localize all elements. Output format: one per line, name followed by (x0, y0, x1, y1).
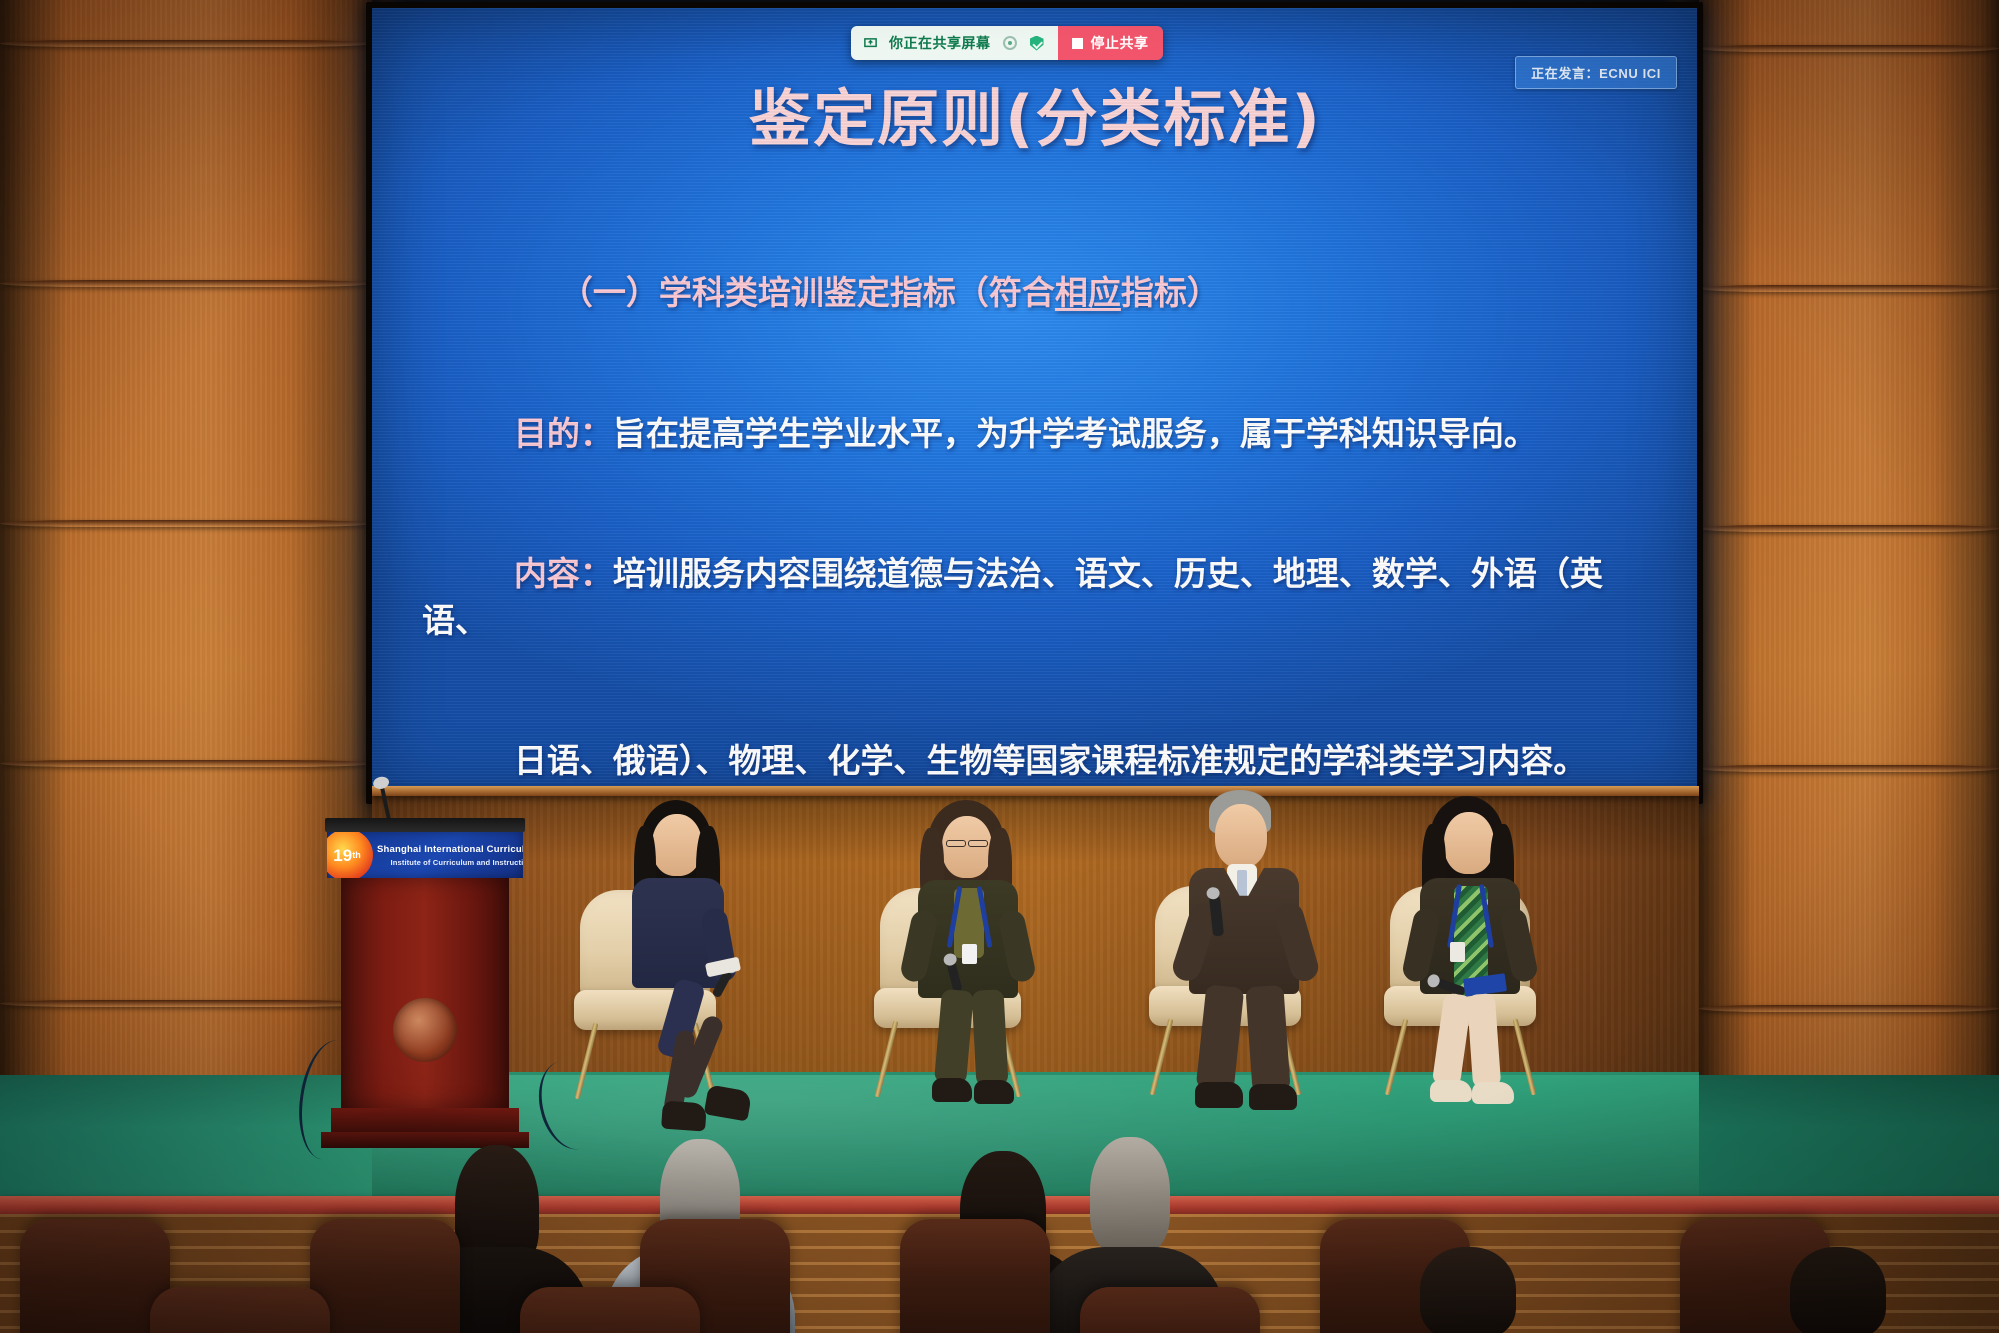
forum-name: Shanghai International Curriculum Forum (377, 844, 523, 855)
share-status-text: 你正在共享屏幕 (889, 33, 991, 53)
panelist-4-leg-right (1467, 993, 1501, 1089)
section-label-content: 内容： (514, 554, 613, 593)
slide-heading-underlined: 相应 (1055, 273, 1121, 312)
slide-section-content: 内容：培训服务内容围绕道德与法治、语文、历史、地理、数学、外语（英语、 (422, 505, 1659, 690)
record-dot-icon[interactable] (1002, 35, 1018, 51)
audience-seatback-1 (20, 1219, 170, 1333)
podium-top-surface (325, 818, 525, 832)
panelist-4 (1402, 796, 1552, 1121)
panelist-2-glasses-right-lens (968, 840, 988, 847)
led-presentation-screen: 你正在共享屏幕 停止共享 正在发言：ECNU ICI 鉴定原则(分类标准) （一… (372, 8, 1699, 798)
panelist-2-glasses-left-lens (946, 840, 966, 847)
security-shield-icon[interactable] (1029, 35, 1045, 51)
audience-seatback-4 (900, 1219, 1050, 1333)
panelist-2 (900, 800, 1050, 1120)
panelist-3-leg-right (1245, 985, 1290, 1093)
section-text-purpose-1: 旨在提高学生学业水平，为升学考试服务，属于学科知识导向。 (613, 414, 1537, 453)
slide-body: （一）学科类培训鉴定指标（符合相应指标） 目的：旨在提高学生学业水平，为升学考试… (422, 224, 1659, 798)
stop-square-icon (1072, 38, 1083, 49)
stop-sharing-label: 停止共享 (1091, 33, 1149, 53)
slide-section-purpose: 目的：旨在提高学生学业水平，为升学考试服务，属于学科知识导向。 (422, 365, 1659, 504)
wall-rail-top (372, 786, 1699, 796)
podium-seal-emblem (393, 998, 457, 1062)
audience-seatback-row2-1 (150, 1287, 330, 1333)
panelist-2-leg-left (934, 989, 974, 1085)
panelist-1 (610, 800, 760, 1120)
slide-heading-suffix: 指标） (1121, 273, 1220, 312)
panelist-3-leg-left (1196, 984, 1245, 1091)
forum-edition-number: 19 (333, 847, 352, 864)
panelist-3-head (1215, 804, 1267, 868)
panelist-4-badge (1450, 942, 1465, 962)
panelist-4-leg-left (1432, 992, 1473, 1087)
audience-seatback-row2-2 (520, 1287, 700, 1333)
podium-sign: 19th Shanghai International Curriculum F… (327, 832, 523, 878)
slide-heading-prefix: （一）学科类培训鉴定指标（符合 (560, 273, 1055, 312)
audience-head-6 (1790, 1247, 1886, 1333)
audience-head-5 (1420, 1247, 1516, 1333)
panelist-4-head (1444, 812, 1494, 874)
audience-head-4 (1090, 1137, 1170, 1255)
share-status-group: 你正在共享屏幕 (851, 26, 1058, 60)
audience-seatback-row2-3 (1080, 1287, 1260, 1333)
forum-institute: Institute of Curriculum and Instruction,… (377, 858, 523, 867)
conference-hall-photo: 你正在共享屏幕 停止共享 正在发言：ECNU ICI 鉴定原则(分类标准) （一… (0, 0, 1999, 1333)
forum-edition-suffix: th (352, 851, 361, 860)
podium-sign-text: Shanghai International Curriculum Forum … (373, 844, 523, 867)
slide-heading-line: （一）学科类培训鉴定指标（符合相应指标） (422, 224, 1659, 363)
screen-share-banner[interactable]: 你正在共享屏幕 停止共享 (851, 26, 1163, 60)
section-label-purpose: 目的： (514, 414, 613, 453)
panelist-3 (1175, 790, 1335, 1120)
panelist-2-head (942, 816, 992, 878)
audience-foreground (0, 1093, 1999, 1333)
active-speaker-badge: 正在发言：ECNU ICI (1515, 56, 1677, 89)
screen-share-icon (862, 35, 878, 51)
panelist-2-leg-right (972, 989, 1009, 1087)
forum-edition-badge: 19th (327, 832, 373, 878)
panelist-1-head (652, 814, 702, 876)
slide-section-content-cont: 日语、俄语）、物理、化学、生物等国家课程标准规定的学科类学习内容。 (422, 692, 1659, 798)
podium-body (341, 878, 509, 1108)
stop-sharing-button[interactable]: 停止共享 (1058, 26, 1163, 60)
section-text-content-2: 日语、俄语）、物理、化学、生物等国家课程标准规定的学科类学习内容。 (514, 741, 1587, 780)
slide-title: 鉴定原则(分类标准) (372, 68, 1699, 158)
panelist-2-badge (962, 944, 977, 964)
audience-seatback-2 (310, 1219, 460, 1333)
